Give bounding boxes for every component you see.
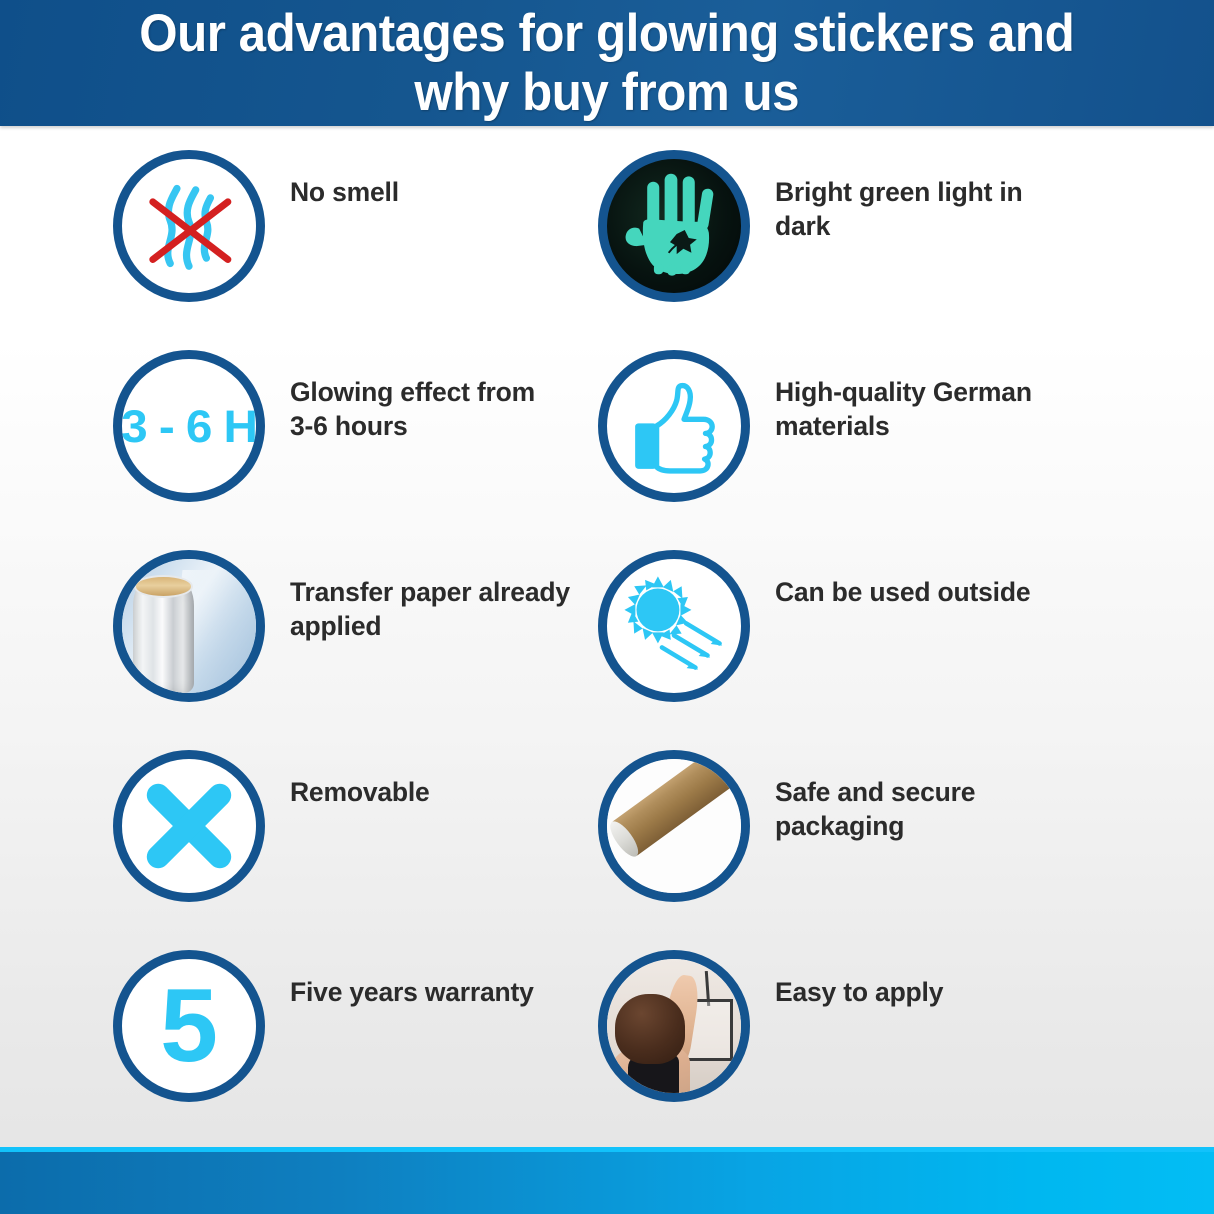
warranty-badge: 5	[113, 950, 265, 1102]
outdoor-use-badge	[598, 550, 750, 702]
transfer-paper-roll-icon	[122, 559, 256, 693]
applying-sticker-photo-icon	[607, 959, 741, 1093]
footer-bar	[0, 1147, 1214, 1214]
shipping-tube-icon	[607, 759, 741, 893]
hair	[615, 994, 685, 1064]
feature-item: 3 - 6 H Glowing effect from 3-6 hours	[113, 350, 598, 550]
feature-label: Five years warranty	[290, 975, 534, 1009]
feature-item: High-quality German materials	[598, 350, 1083, 550]
sun-rays-icon	[607, 559, 741, 693]
feature-label: Removable	[290, 775, 430, 809]
feature-item: No smell	[113, 150, 598, 350]
feature-label: Bright green light in dark	[775, 175, 1083, 243]
no-smell-badge	[113, 150, 265, 302]
tube-cap	[606, 817, 643, 860]
feature-item: Bright green light in dark	[598, 150, 1083, 350]
packaging-badge	[598, 750, 750, 902]
feature-item: 5 Five years warranty	[113, 950, 598, 1150]
infographic-page: Our advantages for glowing stickers and …	[0, 0, 1214, 1214]
glowing-handprint-icon	[607, 159, 741, 293]
feature-grid: No smell	[0, 150, 1214, 1150]
page-title: Our advantages for glowing stickers and …	[126, 4, 1087, 122]
feature-label: Transfer paper already applied	[290, 575, 570, 643]
feature-item: Safe and secure packaging	[598, 750, 1083, 950]
cross-x-icon	[122, 759, 256, 893]
number-five-icon: 5	[160, 974, 218, 1078]
feature-item: Removable	[113, 750, 598, 950]
hours-3-6-icon: 3 - 6 H	[121, 404, 257, 449]
no-smell-icon	[122, 159, 256, 293]
thumbs-up-icon	[607, 359, 741, 493]
roll-core	[134, 575, 193, 598]
feature-label: High-quality German materials	[775, 375, 1083, 443]
feature-label: Glowing effect from 3-6 hours	[290, 375, 535, 443]
feature-label: Easy to apply	[775, 975, 943, 1009]
hours-3-6-badge: 3 - 6 H	[113, 350, 265, 502]
thumbs-up-badge	[598, 350, 750, 502]
header-banner: Our advantages for glowing stickers and …	[0, 0, 1214, 126]
feature-label: Safe and secure packaging	[775, 775, 1083, 843]
removable-badge	[113, 750, 265, 902]
feature-item: Transfer paper already applied	[113, 550, 598, 750]
tube-body	[608, 750, 749, 858]
transfer-paper-badge	[113, 550, 265, 702]
easy-to-apply-badge	[598, 950, 750, 1102]
feature-label: No smell	[290, 175, 399, 209]
feature-item: Easy to apply	[598, 950, 1083, 1150]
feature-item: Can be used outside	[598, 550, 1083, 750]
feature-label: Can be used outside	[775, 575, 1030, 609]
glowing-handprint-badge	[598, 150, 750, 302]
